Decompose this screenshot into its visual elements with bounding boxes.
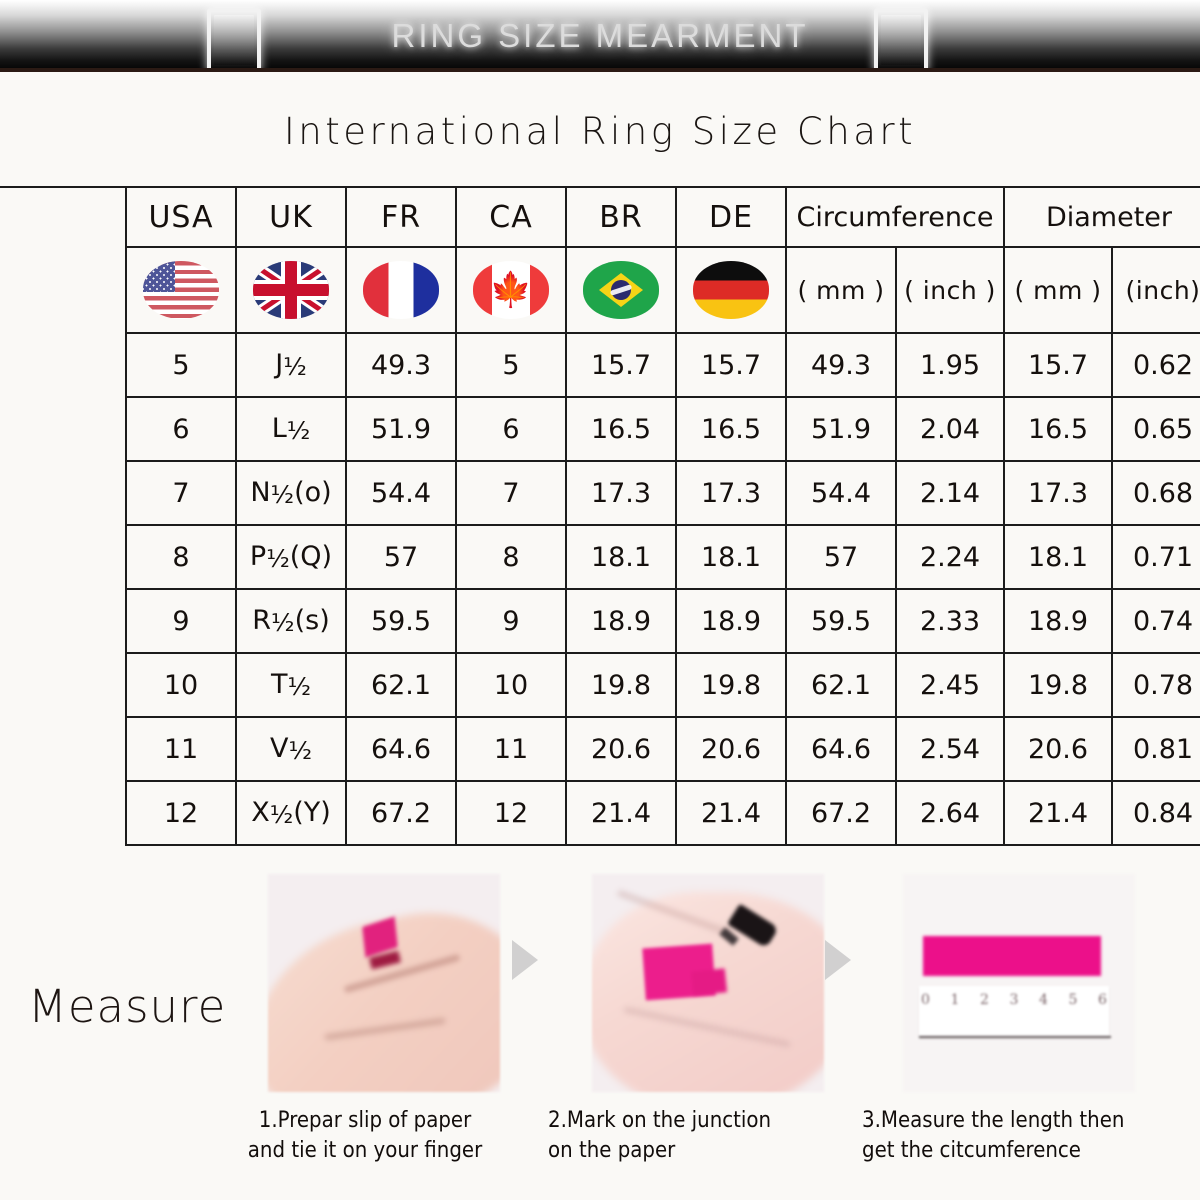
cell-ca: 11	[456, 717, 566, 781]
banner-underline	[0, 68, 1200, 72]
page-title: International Ring Size Chart	[0, 110, 1200, 153]
table-header: USA UK FR CA BR DE Circumference Diamete…	[126, 187, 1200, 333]
cell-circ-inch: 2.45	[896, 653, 1004, 717]
ca-flag-icon: 🍁	[473, 261, 549, 319]
cell-usa: 5	[126, 333, 236, 397]
rectangular-frame-icon	[207, 8, 261, 72]
marking-junction-with-pen-photo	[592, 874, 824, 1092]
cell-usa: 7	[126, 461, 236, 525]
header-circ-mm: ( mm )	[786, 247, 896, 333]
arrow-right-icon	[512, 940, 538, 980]
cell-circ-mm: 57	[786, 525, 896, 589]
flag-cell-uk	[236, 247, 346, 333]
cell-fr: 57	[346, 525, 456, 589]
cell-ca: 7	[456, 461, 566, 525]
table-header-row-flags: 🍁 ( mm ) ( inch ) ( mm ) (inch)	[126, 247, 1200, 333]
cell-uk: R½(s)	[236, 589, 346, 653]
header-de: DE	[676, 187, 786, 247]
uk-flag-icon	[253, 261, 329, 319]
cell-circ-mm: 54.4	[786, 461, 896, 525]
header-fr: FR	[346, 187, 456, 247]
cell-uk: V½	[236, 717, 346, 781]
cell-circ-inch: 2.54	[896, 717, 1004, 781]
cell-ca: 12	[456, 781, 566, 845]
cell-ca: 8	[456, 525, 566, 589]
cell-de: 16.5	[676, 397, 786, 461]
cell-circ-mm: 64.6	[786, 717, 896, 781]
cell-fr: 54.4	[346, 461, 456, 525]
cell-br: 15.7	[566, 333, 676, 397]
cell-usa: 8	[126, 525, 236, 589]
usa-flag-icon	[143, 261, 219, 319]
cell-circ-mm: 62.1	[786, 653, 896, 717]
ruler-tick: 0	[921, 992, 930, 1008]
cell-uk: J½	[236, 333, 346, 397]
cell-uk: P½(Q)	[236, 525, 346, 589]
cell-dia-mm: 20.6	[1004, 717, 1112, 781]
measure-section: Measure 0123456 1.Prepar slip of paper a…	[0, 862, 1200, 1200]
cell-dia-inch: 0.62	[1112, 333, 1200, 397]
cell-dia-inch: 0.65	[1112, 397, 1200, 461]
ruler-tick-labels: 0123456	[921, 992, 1107, 1008]
ruler-tick: 6	[1098, 992, 1107, 1008]
flag-cell-usa	[126, 247, 236, 333]
fr-flag-icon	[363, 261, 439, 319]
cell-uk: X½(Y)	[236, 781, 346, 845]
cell-br: 19.8	[566, 653, 676, 717]
cell-dia-inch: 0.68	[1112, 461, 1200, 525]
cell-dia-mm: 18.1	[1004, 525, 1112, 589]
cell-dia-inch: 0.74	[1112, 589, 1200, 653]
table-row: 12X½(Y)67.21221.421.467.22.6421.40.84	[126, 781, 1200, 845]
flag-cell-fr	[346, 247, 456, 333]
cell-dia-mm: 15.7	[1004, 333, 1112, 397]
cell-circ-mm: 67.2	[786, 781, 896, 845]
table-row: 6L½51.9616.516.551.92.0416.50.65	[126, 397, 1200, 461]
cell-br: 20.6	[566, 717, 676, 781]
hand-with-paper-strip-photo	[268, 874, 500, 1092]
frame-inner	[881, 15, 921, 65]
banner-title: RING SIZE MEARMENT	[391, 17, 808, 55]
step-caption-2: 2.Mark on the junction on the paper	[548, 1106, 848, 1165]
top-banner: RING SIZE MEARMENT	[0, 0, 1200, 72]
measuring-strip-with-ruler-photo: 0123456	[903, 874, 1135, 1092]
cell-dia-inch: 0.71	[1112, 525, 1200, 589]
cell-br: 18.9	[566, 589, 676, 653]
cell-usa: 10	[126, 653, 236, 717]
header-diameter: Diameter	[1004, 187, 1200, 247]
de-flag-icon	[693, 261, 769, 319]
header-circumference: Circumference	[786, 187, 1004, 247]
step-caption-3: 3.Measure the length then get the citcum…	[862, 1106, 1192, 1165]
cell-de: 21.4	[676, 781, 786, 845]
header-br: BR	[566, 187, 676, 247]
header-dia-inch: (inch)	[1112, 247, 1200, 333]
cell-circ-mm: 51.9	[786, 397, 896, 461]
cell-circ-inch: 2.33	[896, 589, 1004, 653]
ruler-tick: 4	[1039, 992, 1048, 1008]
header-ca: CA	[456, 187, 566, 247]
table-row: 11V½64.61120.620.664.62.5420.60.81	[126, 717, 1200, 781]
cell-circ-inch: 1.95	[896, 333, 1004, 397]
cell-uk: T½	[236, 653, 346, 717]
cell-dia-inch: 0.78	[1112, 653, 1200, 717]
cell-ca: 9	[456, 589, 566, 653]
cell-circ-inch: 2.64	[896, 781, 1004, 845]
ruler-tick: 5	[1069, 992, 1078, 1008]
cell-fr: 49.3	[346, 333, 456, 397]
header-circ-inch: ( inch )	[896, 247, 1004, 333]
ruler-tick: 3	[1010, 992, 1019, 1008]
ruler-tick: 1	[951, 992, 960, 1008]
step-caption-1: 1.Prepar slip of paper and tie it on you…	[200, 1106, 530, 1165]
cell-fr: 51.9	[346, 397, 456, 461]
cell-fr: 64.6	[346, 717, 456, 781]
cell-dia-mm: 21.4	[1004, 781, 1112, 845]
table-row: 8P½(Q)57818.118.1572.2418.10.71	[126, 525, 1200, 589]
cell-circ-inch: 2.24	[896, 525, 1004, 589]
header-dia-mm: ( mm )	[1004, 247, 1112, 333]
cell-de: 17.3	[676, 461, 786, 525]
cell-circ-mm: 59.5	[786, 589, 896, 653]
rectangular-frame-icon	[874, 8, 928, 72]
flag-cell-br	[566, 247, 676, 333]
cell-fr: 62.1	[346, 653, 456, 717]
header-uk: UK	[236, 187, 346, 247]
cell-ca: 5	[456, 333, 566, 397]
arrow-right-icon	[825, 940, 851, 980]
cell-dia-inch: 0.81	[1112, 717, 1200, 781]
cell-usa: 11	[126, 717, 236, 781]
table-row: 7N½(o)54.4717.317.354.42.1417.30.68	[126, 461, 1200, 525]
cell-fr: 67.2	[346, 781, 456, 845]
table-row: 9R½(s)59.5918.918.959.52.3318.90.74	[126, 589, 1200, 653]
frame-inner	[214, 15, 254, 65]
cell-de: 18.1	[676, 525, 786, 589]
ring-size-table: USA UK FR CA BR DE Circumference Diamete…	[125, 186, 1200, 846]
cell-uk: L½	[236, 397, 346, 461]
cell-dia-mm: 18.9	[1004, 589, 1112, 653]
table-header-row-labels: USA UK FR CA BR DE Circumference Diamete…	[126, 187, 1200, 247]
cell-circ-inch: 2.04	[896, 397, 1004, 461]
cell-dia-mm: 16.5	[1004, 397, 1112, 461]
cell-dia-mm: 19.8	[1004, 653, 1112, 717]
cell-uk: N½(o)	[236, 461, 346, 525]
ruler-tick: 2	[980, 992, 989, 1008]
measure-label: Measure	[28, 980, 226, 1033]
cell-fr: 59.5	[346, 589, 456, 653]
cell-de: 15.7	[676, 333, 786, 397]
br-flag-icon	[583, 261, 659, 319]
cell-circ-inch: 2.14	[896, 461, 1004, 525]
cell-de: 19.8	[676, 653, 786, 717]
flag-cell-de	[676, 247, 786, 333]
table-row: 5J½49.3515.715.749.31.9515.70.62	[126, 333, 1200, 397]
header-usa: USA	[126, 187, 236, 247]
cell-dia-mm: 17.3	[1004, 461, 1112, 525]
table-body: 5J½49.3515.715.749.31.9515.70.626L½51.96…	[126, 333, 1200, 845]
flag-cell-ca: 🍁	[456, 247, 566, 333]
cell-br: 17.3	[566, 461, 676, 525]
cell-dia-inch: 0.84	[1112, 781, 1200, 845]
table-row: 10T½62.11019.819.862.12.4519.80.78	[126, 653, 1200, 717]
cell-usa: 6	[126, 397, 236, 461]
cell-br: 18.1	[566, 525, 676, 589]
cell-de: 18.9	[676, 589, 786, 653]
cell-de: 20.6	[676, 717, 786, 781]
cell-br: 16.5	[566, 397, 676, 461]
cell-ca: 6	[456, 397, 566, 461]
size-table-wrapper: USA UK FR CA BR DE Circumference Diamete…	[125, 186, 1200, 846]
cell-ca: 10	[456, 653, 566, 717]
cell-usa: 9	[126, 589, 236, 653]
cell-br: 21.4	[566, 781, 676, 845]
cell-usa: 12	[126, 781, 236, 845]
cell-circ-mm: 49.3	[786, 333, 896, 397]
